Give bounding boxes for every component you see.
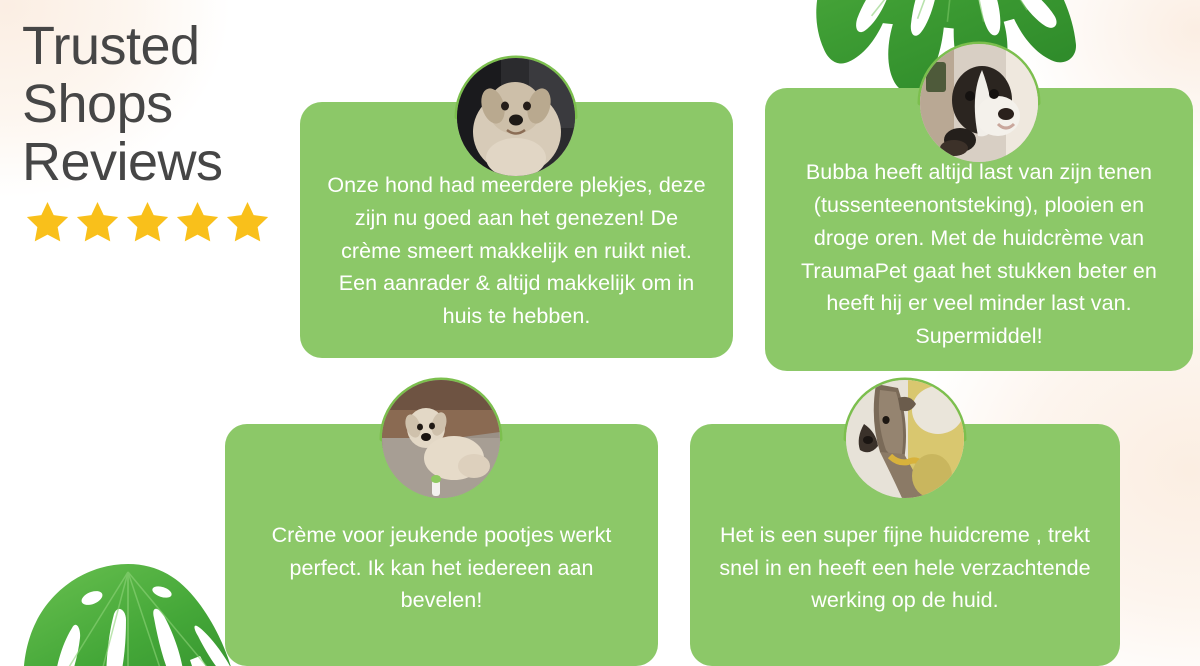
review-avatar-3 — [382, 380, 500, 498]
star-icon — [74, 199, 121, 244]
page-title: Trusted Shops Reviews — [22, 18, 292, 191]
avatar-image-4 — [846, 380, 964, 498]
monstera-leaf-bottom-left-icon — [18, 558, 238, 666]
review-banner-canvas: Trusted Shops Reviews Onze hond had meer… — [0, 0, 1200, 666]
headline-block: Trusted Shops Reviews — [22, 18, 292, 244]
star-rating — [24, 199, 292, 244]
review-avatar-4 — [846, 380, 964, 498]
avatar-image-1 — [457, 58, 575, 176]
star-icon — [124, 199, 171, 244]
avatar-image-3 — [382, 380, 500, 498]
avatar-image-2 — [920, 44, 1038, 162]
review-avatar-1 — [457, 58, 575, 176]
review-avatar-2 — [920, 44, 1038, 162]
star-icon — [24, 199, 71, 244]
star-icon — [224, 199, 271, 244]
star-icon — [174, 199, 221, 244]
